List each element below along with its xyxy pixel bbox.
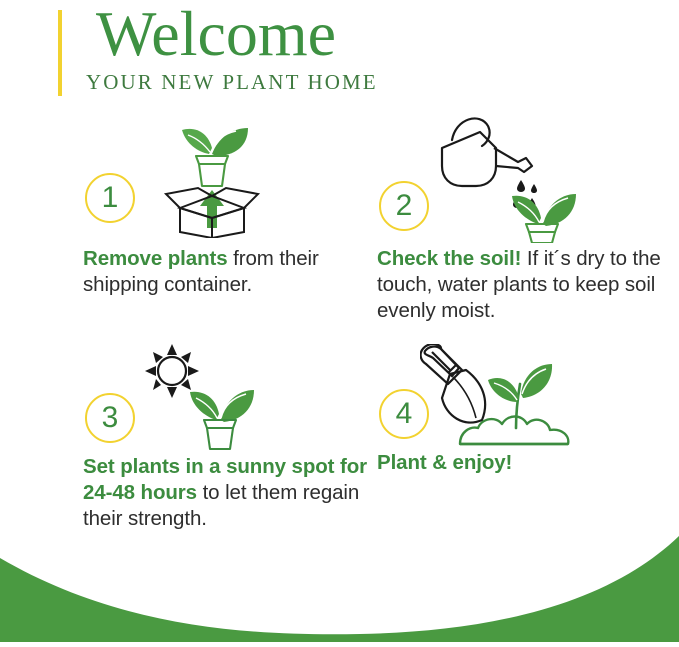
page-title: Welcome [96,0,336,70]
step-highlight-2: Check the soil! [377,247,521,270]
plant-in-open-box-icon [146,108,276,243]
step-highlight-1: Remove plants [83,247,228,270]
step-description-4: Plant & enjoy! [377,450,667,476]
step-number-2: 2 [381,191,427,221]
step-description-1: Remove plants from their shipping contai… [83,246,373,298]
bottom-green-wave [0,532,679,642]
step-number-badge-1: 1 [85,173,135,223]
sun-and-plant-icon [120,344,300,464]
step-description-3: Set plants in a sunny spot for 24-48 hou… [83,454,373,532]
step-highlight-4: Plant & enjoy! [377,451,512,474]
page-subtitle: YOUR NEW PLANT HOME [86,70,378,94]
step-description-2: Check the soil! If it´s dry to the touch… [377,246,671,324]
page-header: Welcome YOUR NEW PLANT HOME [58,6,618,98]
watering-can-plant-icon [422,108,597,248]
step-number-1: 1 [87,183,133,213]
accent-bar [58,10,62,96]
trowel-and-seedling-icon [420,344,600,459]
